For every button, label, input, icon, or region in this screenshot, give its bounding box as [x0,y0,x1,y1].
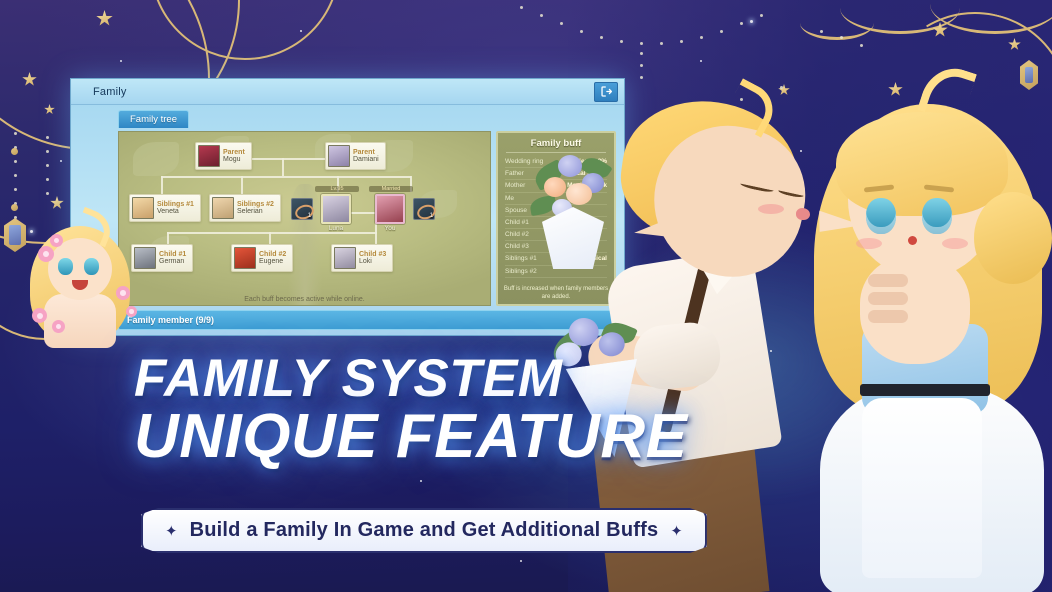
family-tree-panel: Parent Mogu Parent Damiani Siblings #1 [118,131,491,306]
node-name: Mogu [223,156,245,163]
flower-icon [38,246,54,262]
character-chibi-girl [22,212,140,344]
tab-family-tree[interactable]: Family tree [118,110,189,128]
node-role: Child #3 [359,251,386,258]
tree-connector [161,176,411,178]
sparkle-left-icon: ✦ [165,522,178,540]
buff-label: Siblings #2 [505,266,537,277]
window-title: Family [93,86,127,98]
tree-node-child[interactable]: Child #2 Eugene [231,244,293,272]
portrait-thumbnail [334,247,356,269]
sparkle-right-icon: ✦ [670,522,683,540]
self-label: You [370,225,410,232]
self-chip: Married [369,186,413,192]
tree-connector [161,176,163,194]
ring-count: 1 [430,213,433,219]
buff-label: Spouse [505,205,527,216]
node-name: Loki [359,258,386,265]
node-role: Child #2 [259,251,286,258]
tree-connector [241,176,243,194]
buff-label: Wedding ring [505,156,543,167]
node-role: Siblings #1 [157,201,194,208]
spouse-chip: Lv.95 [315,186,359,192]
portrait-thumbnail [234,247,256,269]
tree-note: Each buff becomes active while online. [119,296,490,303]
node-role: Siblings #2 [237,201,274,208]
lantern-bead [11,148,18,155]
self-avatar[interactable] [375,194,405,224]
flower-icon [52,320,65,333]
window-title-bar: Family [71,79,624,105]
flower-icon [32,308,47,323]
node-role: Parent [353,149,379,156]
spouse-avatar[interactable] [321,194,351,224]
window-tab-bar: Family tree [71,105,624,128]
tree-connector [269,232,271,244]
buff-label: Child #3 [505,241,529,252]
subtitle-text: Build a Family In Game and Get Additiona… [190,519,659,542]
tree-connector [282,158,284,176]
wedding-ring-item[interactable]: 1 [413,198,435,220]
promo-banner: Family Family tree [0,0,1052,592]
lantern-bead [11,204,18,211]
game-ui-window: Family Family tree [70,78,625,336]
portrait-thumbnail [328,145,350,167]
tree-connector [375,232,377,244]
wedding-ring-item[interactable]: 1 [291,198,313,220]
node-role: Child #1 [159,251,186,258]
node-name: Veneta [157,208,194,215]
portrait-thumbnail [212,197,234,219]
tree-node-child[interactable]: Child #1 German [131,244,193,272]
node-name: Damiani [353,156,379,163]
buff-label: Child #2 [505,229,529,240]
flower-icon [126,306,137,317]
headline-block: FAMILY SYSTEM UNIQUE FEATURE [134,354,754,466]
tree-node-parent[interactable]: Parent Mogu [195,142,252,170]
ring-count: 1 [308,213,311,219]
subtitle-pill: ✦ Build a Family In Game and Get Additio… [141,508,707,553]
leaf-decoration [133,142,179,176]
tree-node-child[interactable]: Child #3 Loki [331,244,393,272]
buff-label: Mother [505,180,525,191]
buff-label: Father [505,168,524,179]
character-elf-girl [804,68,1052,592]
tree-connector [167,232,169,244]
spouse-label: Luna [316,225,356,232]
tree-node-parent[interactable]: Parent Damiani [325,142,386,170]
flower-icon [116,286,130,300]
node-name: Selerian [237,208,274,215]
family-member-count: Family member (9/9) [127,315,214,325]
buff-label: Child #1 [505,217,529,228]
headline-line-2: UNIQUE FEATURE [134,407,754,467]
headline-line-1: FAMILY SYSTEM [134,354,754,405]
flower-icon [50,234,63,247]
tree-connector [167,232,377,234]
tree-node-sibling[interactable]: Siblings #2 Selerian [209,194,281,222]
node-role: Parent [223,149,245,156]
buff-label: Siblings #1 [505,253,537,264]
portrait-thumbnail [198,145,220,167]
node-name: Eugene [259,258,286,265]
node-name: German [159,258,186,265]
buff-label: Me [505,193,514,204]
